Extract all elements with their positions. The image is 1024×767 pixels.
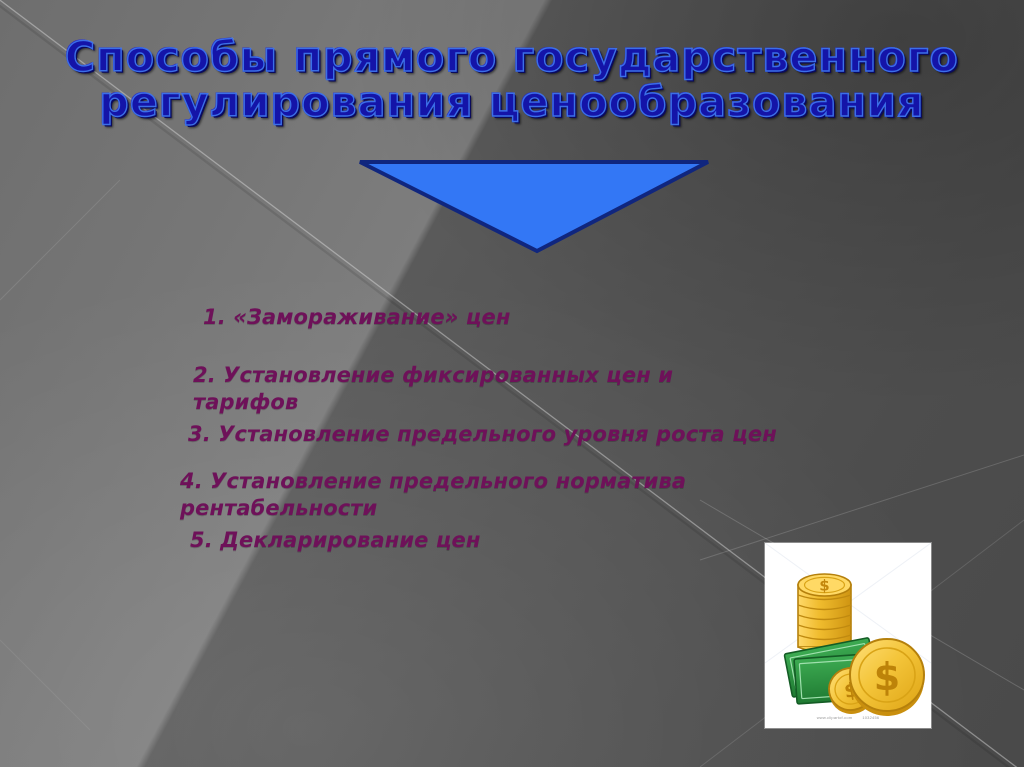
slide-title: Способы прямого государственного регулир… (0, 36, 1024, 123)
svg-text:$: $ (874, 655, 900, 699)
list-item: 2. Установление фиксированных цен и тари… (193, 362, 673, 416)
down-triangle-shape (356, 152, 712, 256)
list-item: 5. Декларирование цен (190, 527, 481, 554)
watermark-id: 1032456 (862, 715, 879, 720)
presentation-slide: Способы прямого государственного регулир… (0, 0, 1024, 767)
picture-watermark: www.clipartof.com1032456 (765, 715, 931, 720)
watermark-url: www.clipartof.com (817, 715, 853, 720)
list-item: 4. Установление предельного норматива ре… (180, 468, 686, 522)
svg-text:$: $ (819, 577, 829, 595)
title-line-2: регулирования ценообразования (0, 81, 1024, 124)
list-item: 3. Установление предельного уровня роста… (188, 421, 777, 448)
money-clipart-image: $ $ $ $ (765, 543, 931, 728)
title-line-1: Способы прямого государственного (0, 36, 1024, 79)
list-item: 1. «Замораживание» цен (203, 304, 510, 331)
